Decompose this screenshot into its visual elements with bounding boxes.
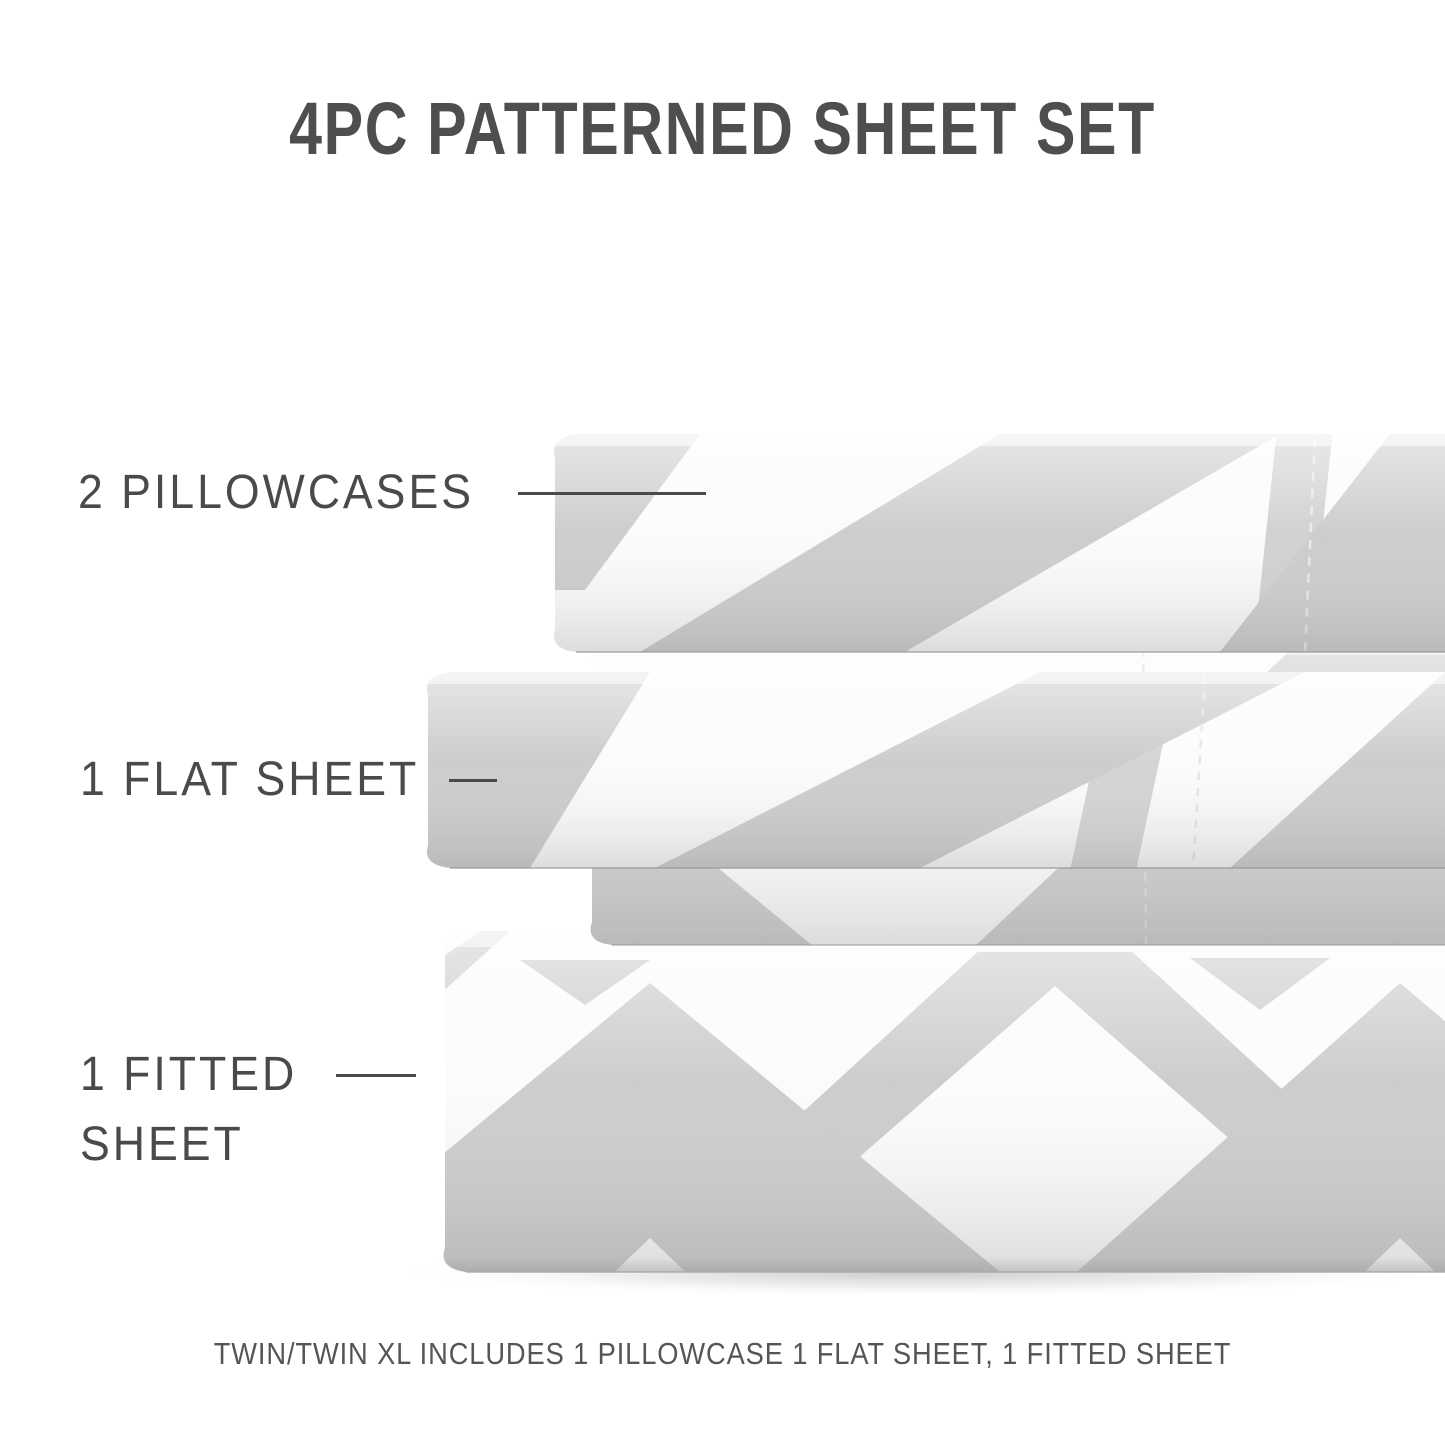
callout-flat-sheet-label: 1 FLAT SHEET (80, 749, 419, 811)
callout-fitted-sheet-label-line2: SHEET (80, 1114, 392, 1176)
footer-note: TWIN/TWIN XL INCLUDES 1 PILLOWCASE 1 FLA… (87, 1336, 1359, 1372)
sheet-stack-illustration (400, 400, 1445, 1320)
leader-line-flat-sheet (449, 779, 497, 782)
product-image-sheet-stack (400, 400, 1445, 1320)
leader-line-pillowcases (518, 492, 706, 495)
callout-pillowcases-label: 2 PILLOWCASES (78, 462, 474, 524)
callout-fitted-sheet: 1 FITTED SHEET (80, 1044, 416, 1177)
callout-flat-sheet: 1 FLAT SHEET (80, 749, 497, 811)
fitted-sheet (400, 881, 1445, 1320)
leader-line-fitted-sheet (336, 1074, 416, 1077)
callout-pillowcases: 2 PILLOWCASES (78, 462, 706, 524)
page-title: 4PC PATTERNED SHEET SET (145, 92, 1301, 166)
infographic-page: 4PC PATTERNED SHEET SET (0, 0, 1445, 1445)
pillowcase-second (400, 672, 1445, 872)
callout-fitted-sheet-label-line1: 1 FITTED (80, 1044, 297, 1106)
